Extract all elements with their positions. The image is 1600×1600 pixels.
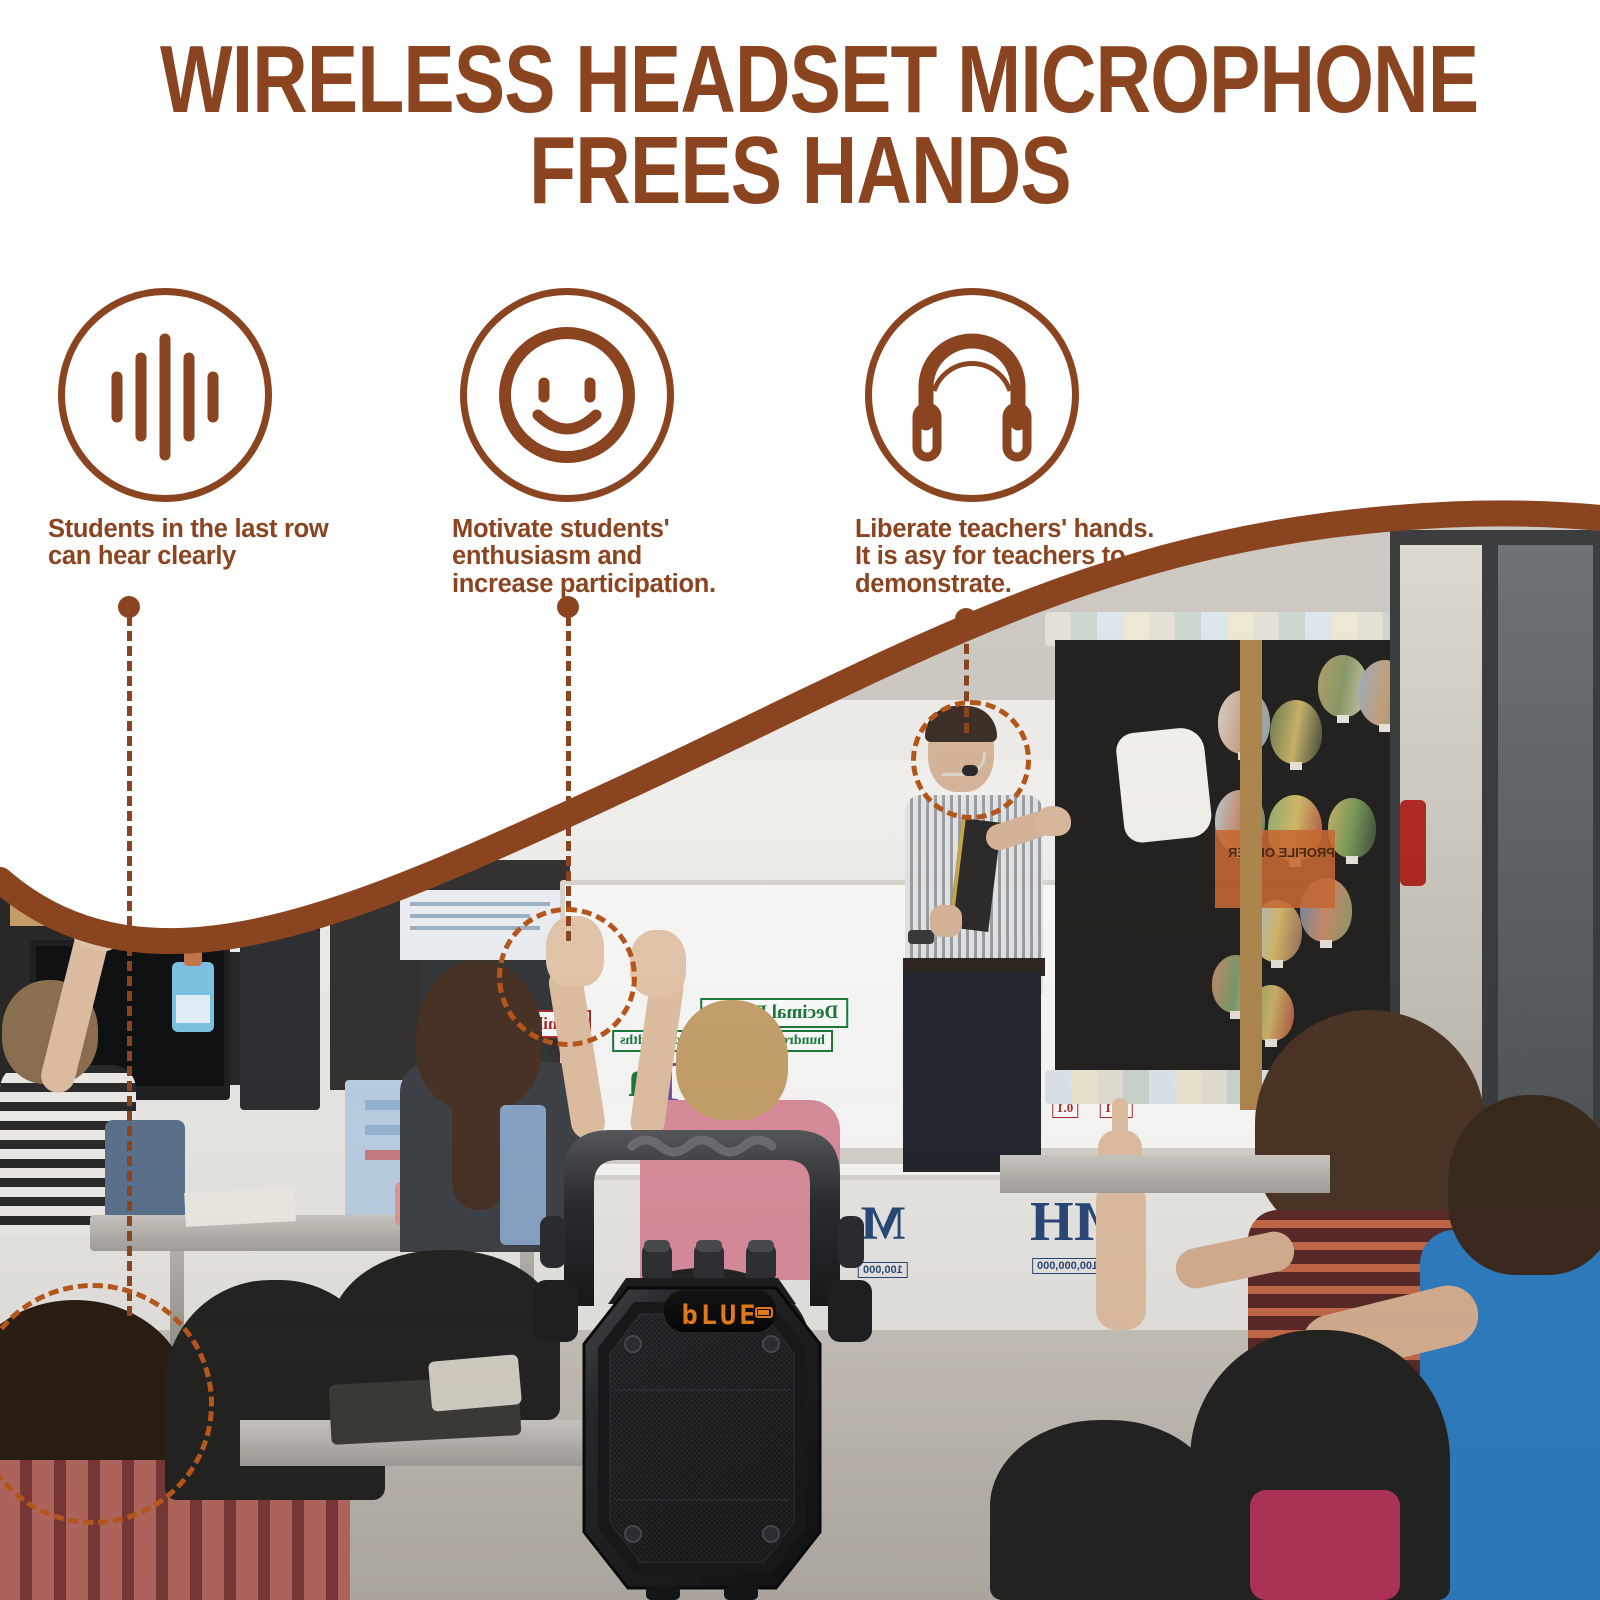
headphones-icon	[865, 288, 1079, 502]
flag-bunting	[0, 838, 320, 858]
title-line-1: WIRELESS HEADSET MICROPHONE	[160, 34, 1440, 125]
connector-dot	[557, 596, 579, 618]
feature-item-sound: Students in the last row can hear clearl…	[48, 288, 428, 571]
page-title: WIRELESS HEADSET MICROPHONE FREES HANDS	[0, 34, 1600, 216]
teacher-headset-highlight	[911, 700, 1031, 820]
feature-caption: Motivate students' enthusiasm and increa…	[452, 516, 832, 598]
connector-dot	[118, 596, 140, 618]
feature-list: Students in the last row can hear clearl…	[0, 288, 1240, 628]
control-knobs	[642, 1240, 776, 1282]
sound-wave-icon	[58, 288, 272, 502]
portable-pa-speaker: bLUE	[528, 1092, 876, 1600]
connector-dot	[955, 608, 977, 630]
led-display-text: bLUE	[681, 1300, 758, 1331]
title-line-2: FREES HANDS	[160, 125, 1440, 216]
feature-item-smiley: Motivate students' enthusiasm and increa…	[452, 288, 832, 598]
raised-hand-highlight	[497, 907, 637, 1047]
feature-caption: Students in the last row can hear clearl…	[48, 516, 428, 571]
feature-item-headphones: Liberate teachers' hands. It is asy for …	[855, 288, 1235, 598]
connector-line	[127, 616, 132, 1316]
infographic-canvas: Decimal Family Family thousandths hundre…	[0, 0, 1600, 1600]
connector-line	[566, 616, 571, 941]
feature-caption: Liberate teachers' hands. It is asy for …	[855, 516, 1235, 598]
smiley-face-icon	[460, 288, 674, 502]
